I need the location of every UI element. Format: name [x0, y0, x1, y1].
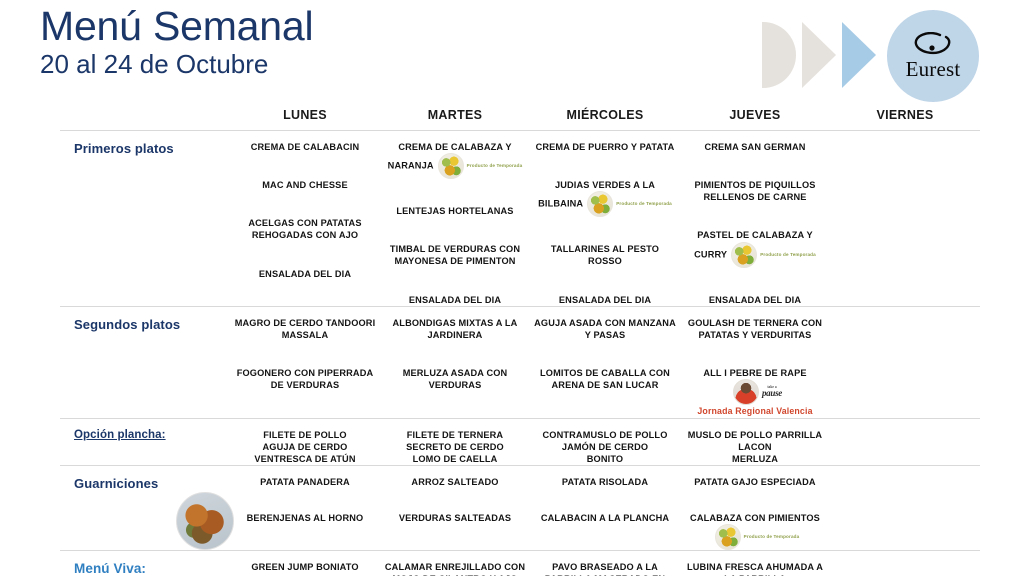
day-column-lunes: GREEN JUMP BONIATOgreenJUMP — [230, 551, 380, 576]
dish-item[interactable]: ARROZ SALTEADO — [384, 476, 526, 488]
vegetables-icon — [438, 153, 464, 179]
dish-item[interactable]: PAVO BRASEADO A LA PARRILLA MACERADO EN … — [534, 561, 676, 576]
dish-name: LUBINA FRESCA AHUMADA A LA PARRILLA — [687, 562, 823, 576]
dish-item[interactable]: ENSALADA DEL DIA — [234, 268, 376, 280]
dish-empty — [834, 355, 976, 367]
dish-name: PATATA RISOLADA — [562, 477, 648, 487]
dish-item[interactable]: AGUJA ASADA CON MANZANA Y PASAS — [534, 317, 676, 341]
producto-temporada-label: Producto de Temporada — [616, 201, 672, 207]
day-column-viernes — [830, 131, 980, 306]
menu-section: Opción plancha:FILETE DE POLLOAGUJA DE C… — [60, 419, 980, 465]
dish-item[interactable]: ENSALADA DEL DIA — [684, 294, 826, 306]
menu-page: Menú Semanal 20 al 24 de Octubre Eurest … — [0, 0, 1024, 576]
dish-item[interactable]: LOMITOS DE CABALLA CON ARENA DE SAN LUCA… — [534, 367, 676, 391]
dish-name: ARROZ SALTEADO — [411, 477, 498, 487]
day-column-miércoles: AGUJA ASADA CON MANZANA Y PASASLOMITOS D… — [530, 307, 680, 418]
dish-name: MUSLO DE POLLO PARRILLALACONMERLUZA — [688, 430, 822, 464]
chevron-triangle-blue-icon — [842, 22, 876, 88]
day-column-martes: ARROZ SALTEADOVERDURAS SALTEADAS — [380, 466, 530, 550]
dish-name: CALABAZA CON PIMIENTOS — [690, 513, 820, 523]
dish-item[interactable]: ENSALADA DEL DIA — [384, 294, 526, 306]
day-column-miércoles: PATATA RISOLADACALABACIN A LA PLANCHA — [530, 466, 680, 550]
dish-name: CONTRAMUSLO DE POLLOJAMÓN DE CERDOBONITO — [543, 430, 668, 464]
dish-name: VERDURAS SALTEADAS — [399, 513, 511, 523]
dish-name: ALL I PEBRE DE RAPE — [703, 368, 806, 378]
dish-name: ALBONDIGAS MIXTAS A LA JARDINERA — [393, 318, 518, 340]
day-column-viernes — [830, 419, 980, 465]
day-column-miércoles: CREMA DE PUERRO Y PATATAJUDIAS VERDES A … — [530, 131, 680, 306]
dish-name: CREMA DE PUERRO Y PATATA — [536, 142, 675, 152]
section-label: Primeros platos — [74, 141, 230, 156]
dish-name: GOULASH DE TERNERA CON PATATAS Y VERDURI… — [688, 318, 822, 340]
jornada-logo-top-label: take a — [762, 386, 782, 390]
jornada-logo-wordmark: take apause — [762, 386, 782, 399]
eurest-wordmark: Eurest — [906, 59, 961, 80]
dish-item[interactable]: MAC AND CHESSE — [234, 179, 376, 191]
dish-empty — [834, 561, 976, 573]
section-label: Menú Viva: — [74, 561, 230, 576]
section-label: Opción plancha: — [74, 429, 230, 441]
producto-temporada-badge: Producto de Temporada — [715, 524, 800, 550]
dish-item[interactable]: MUSLO DE POLLO PARRILLALACONMERLUZA — [684, 429, 826, 465]
dish-name: ENSALADA DEL DIA — [259, 269, 351, 279]
dish-empty — [834, 512, 976, 524]
dish-item[interactable]: CREMA SAN GERMAN — [684, 141, 826, 153]
producto-temporada-label: Producto de Temporada — [744, 534, 800, 540]
day-column-viernes — [830, 551, 980, 576]
chevron-half-circle-icon — [762, 22, 796, 88]
fuera-de-carta-food-photo — [176, 492, 234, 550]
dish-note: Jornada Regional Valencia — [684, 406, 826, 417]
dish-item[interactable]: PATATA GAJO ESPECIADA — [684, 476, 826, 488]
day-column-lunes: PATATA PANADERABERENJENAS AL HORNO — [230, 466, 380, 550]
day-column-lunes: MAGRO DE CERDO TANDOORI MASSALAFOGONERO … — [230, 307, 380, 418]
menu-section: Segundos platosMAGRO DE CERDO TANDOORI M… — [60, 307, 980, 418]
dish-item[interactable]: PIMIENTOS DE PIQUILLOS RELLENOS DE CARNE — [684, 179, 826, 203]
eurest-logo-circle: Eurest — [887, 10, 979, 102]
page-subtitle: 20 al 24 de Octubre — [40, 50, 313, 80]
section-columns: FILETE DE POLLOAGUJA DE CERDOVENTRESCA D… — [230, 419, 980, 465]
dish-empty — [834, 255, 976, 267]
dish-item[interactable]: JUDIAS VERDES A LA BILBAINAProducto de T… — [534, 179, 676, 217]
dish-name: ENSALADA DEL DIA — [709, 295, 801, 305]
dish-name: PIMIENTOS DE PIQUILLOS RELLENOS DE CARNE — [694, 180, 815, 202]
dish-empty — [834, 217, 976, 229]
dish-item[interactable]: CALABACIN A LA PLANCHA — [534, 512, 676, 524]
dish-item[interactable]: TIMBAL DE VERDURAS CON MAYONESA DE PIMEN… — [384, 243, 526, 267]
vegetables-icon — [587, 191, 613, 217]
day-column-viernes — [830, 466, 980, 550]
header-title-block: Menú Semanal 20 al 24 de Octubre — [40, 4, 313, 80]
dish-item[interactable]: CALAMAR ENREJILLADO CON MOJO DE CILANTRO… — [384, 561, 526, 576]
dish-item[interactable]: CREMA DE CALABAZA Y NARANJAProducto de T… — [384, 141, 526, 179]
producto-temporada-label: Producto de Temporada — [760, 252, 816, 258]
day-header-miercoles: MIÉRCOLES — [530, 108, 680, 122]
day-column-lunes: CREMA DE CALABACINMAC AND CHESSEACELGAS … — [230, 131, 380, 306]
dish-item[interactable]: MAGRO DE CERDO TANDOORI MASSALA — [234, 317, 376, 341]
dish-name: BERENJENAS AL HORNO — [247, 513, 364, 523]
dish-item[interactable]: ALL I PEBRE DE RAPEtake apauseJornada Re… — [684, 367, 826, 418]
day-header-martes: MARTES — [380, 108, 530, 122]
day-header-spacer — [60, 108, 230, 122]
dish-item[interactable]: TALLARINES AL PESTO ROSSO — [534, 243, 676, 267]
producto-temporada-badge: Producto de Temporada — [587, 191, 672, 217]
dish-empty — [834, 317, 976, 329]
dish-item[interactable]: ALBONDIGAS MIXTAS A LA JARDINERA — [384, 317, 526, 341]
dish-empty — [834, 429, 976, 441]
dish-name: ENSALADA DEL DIA — [559, 295, 651, 305]
producto-temporada-label: Producto de Temporada — [467, 163, 523, 169]
day-column-martes: FILETE DE TERNERASECRETO DE CERDOLOMO DE… — [380, 419, 530, 465]
producto-temporada-badge: Producto de Temporada — [438, 153, 523, 179]
dish-item[interactable]: CREMA DE PUERRO Y PATATA — [534, 141, 676, 153]
dish-name: ENSALADA DEL DIA — [409, 295, 501, 305]
dish-name: LENTEJAS HORTELANAS — [396, 206, 513, 216]
dish-name: FILETE DE POLLOAGUJA DE CERDOVENTRESCA D… — [254, 430, 355, 464]
dish-item[interactable]: GREEN JUMP BONIATOgreenJUMP — [234, 561, 376, 576]
dish-item[interactable]: PATATA PANADERA — [234, 476, 376, 488]
dish-item[interactable]: PASTEL DE CALABAZA Y CURRYProducto de Te… — [684, 229, 826, 267]
day-header-row: LUNES MARTES MIÉRCOLES JUEVES VIERNES — [60, 108, 980, 122]
menu-section: Primeros platosCREMA DE CALABACINMAC AND… — [60, 131, 980, 306]
day-column-martes: CREMA DE CALABAZA Y NARANJAProducto de T… — [380, 131, 530, 306]
menu-section: Menú Viva:GREEN JUMP BONIATOgreenJUMPCAL… — [60, 551, 980, 576]
dish-name: MERLUZA ASADA CON VERDURAS — [403, 368, 508, 390]
dish-name: CALABACIN A LA PLANCHA — [541, 513, 669, 523]
dish-empty — [834, 141, 976, 153]
dish-item[interactable]: CONTRAMUSLO DE POLLOJAMÓN DE CERDOBONITO — [534, 429, 676, 465]
dish-name: PAVO BRASEADO A LA PARRILLA MACERADO EN … — [545, 562, 665, 576]
dish-name: LOMITOS DE CABALLA CON ARENA DE SAN LUCA… — [540, 368, 670, 390]
dish-name: PATATA PANADERA — [260, 477, 350, 487]
dish-name: CREMA SAN GERMAN — [704, 142, 805, 152]
section-label-cell: Segundos platos — [60, 307, 230, 418]
day-column-miércoles: CONTRAMUSLO DE POLLOJAMÓN DE CERDOBONITO — [530, 419, 680, 465]
dish-item[interactable]: CALABAZA CON PIMIENTOSProducto de Tempor… — [684, 512, 826, 550]
day-column-jueves: CREMA SAN GERMANPIMIENTOS DE PIQUILLOS R… — [680, 131, 830, 306]
dish-item[interactable]: MERLUZA ASADA CON VERDURAS — [384, 367, 526, 391]
day-column-jueves: PATATA GAJO ESPECIADACALABAZA CON PIMIEN… — [680, 466, 830, 550]
section-label-cell: Primeros platos — [60, 131, 230, 306]
dish-name: FILETE DE TERNERASECRETO DE CERDOLOMO DE… — [406, 430, 504, 464]
day-column-jueves: MUSLO DE POLLO PARRILLALACONMERLUZA — [680, 419, 830, 465]
page-title: Menú Semanal — [40, 4, 313, 48]
day-column-martes: CALAMAR ENREJILLADO CON MOJO DE CILANTRO… — [380, 551, 530, 576]
dish-name: GREEN JUMP BONIATO — [251, 562, 358, 572]
brand-logo: Eurest — [754, 8, 1014, 104]
dish-item[interactable]: LENTEJAS HORTELANAS — [384, 205, 526, 217]
producto-temporada-badge: Producto de Temporada — [731, 242, 816, 268]
dish-item[interactable]: LUBINA FRESCA AHUMADA A LA PARRILLA — [684, 561, 826, 576]
day-column-jueves: LUBINA FRESCA AHUMADA A LA PARRILLA — [680, 551, 830, 576]
dish-name: PATATA GAJO ESPECIADA — [694, 477, 815, 487]
section-columns: CREMA DE CALABACINMAC AND CHESSEACELGAS … — [230, 131, 980, 306]
dish-name: CALAMAR ENREJILLADO CON MOJO DE CILANTRO… — [385, 562, 525, 576]
day-header-lunes: LUNES — [230, 108, 380, 122]
day-column-lunes: FILETE DE POLLOAGUJA DE CERDOVENTRESCA D… — [230, 419, 380, 465]
dish-name: TIMBAL DE VERDURAS CON MAYONESA DE PIMEN… — [390, 244, 520, 266]
dish-name: FOGONERO CON PIPERRADA DE VERDURAS — [237, 368, 374, 390]
dish-item[interactable]: BERENJENAS AL HORNO — [234, 512, 376, 524]
dish-name: CREMA DE CALABACIN — [251, 142, 360, 152]
dish-item[interactable]: ACELGAS CON PATATAS REHOGADAS CON AJO — [234, 217, 376, 241]
jornada-chef-badge: take apause — [733, 379, 782, 405]
day-column-miércoles: PAVO BRASEADO A LA PARRILLA MACERADO EN … — [530, 551, 680, 576]
dish-name: AGUJA ASADA CON MANZANA Y PASAS — [534, 318, 676, 340]
dish-item[interactable]: GOULASH DE TERNERA CON PATATAS Y VERDURI… — [684, 317, 826, 341]
dish-item[interactable]: VERDURAS SALTEADAS — [384, 512, 526, 524]
day-column-jueves: GOULASH DE TERNERA CON PATATAS Y VERDURI… — [680, 307, 830, 418]
dish-item[interactable]: ENSALADA DEL DIA — [534, 294, 676, 306]
section-label: Guarniciones — [74, 476, 230, 491]
dish-empty — [834, 476, 976, 488]
dish-item[interactable]: CREMA DE CALABACIN — [234, 141, 376, 153]
section-columns: GREEN JUMP BONIATOgreenJUMPCALAMAR ENREJ… — [230, 551, 980, 576]
dish-empty — [834, 179, 976, 191]
day-header-jueves: JUEVES — [680, 108, 830, 122]
chevron-triangle-beige-icon — [802, 22, 836, 88]
dish-name: TALLARINES AL PESTO ROSSO — [551, 244, 659, 266]
dish-item[interactable]: FOGONERO CON PIPERRADA DE VERDURAS — [234, 367, 376, 391]
section-label: Segundos platos — [74, 317, 230, 332]
section-columns: PATATA PANADERABERENJENAS AL HORNOARROZ … — [230, 466, 980, 550]
day-header-viernes: VIERNES — [830, 108, 980, 122]
day-column-martes: ALBONDIGAS MIXTAS A LA JARDINERAMERLUZA … — [380, 307, 530, 418]
vegetables-icon — [715, 524, 741, 550]
chef-portrait-icon — [733, 379, 759, 405]
day-column-viernes — [830, 307, 980, 418]
dish-name: MAC AND CHESSE — [262, 180, 347, 190]
section-label-cell: Menú Viva: — [60, 551, 230, 576]
dish-item[interactable]: PATATA RISOLADA — [534, 476, 676, 488]
dish-item[interactable]: FILETE DE TERNERASECRETO DE CERDOLOMO DE… — [384, 429, 526, 465]
dish-item[interactable]: FILETE DE POLLOAGUJA DE CERDOVENTRESCA D… — [234, 429, 376, 465]
section-columns: MAGRO DE CERDO TANDOORI MASSALAFOGONERO … — [230, 307, 980, 418]
eurest-swoosh-icon — [910, 32, 956, 58]
vegetables-icon — [731, 242, 757, 268]
dish-name: ACELGAS CON PATATAS REHOGADAS CON AJO — [248, 218, 361, 240]
section-label-cell: Opción plancha: — [60, 419, 230, 465]
dish-name: MAGRO DE CERDO TANDOORI MASSALA — [235, 318, 376, 340]
